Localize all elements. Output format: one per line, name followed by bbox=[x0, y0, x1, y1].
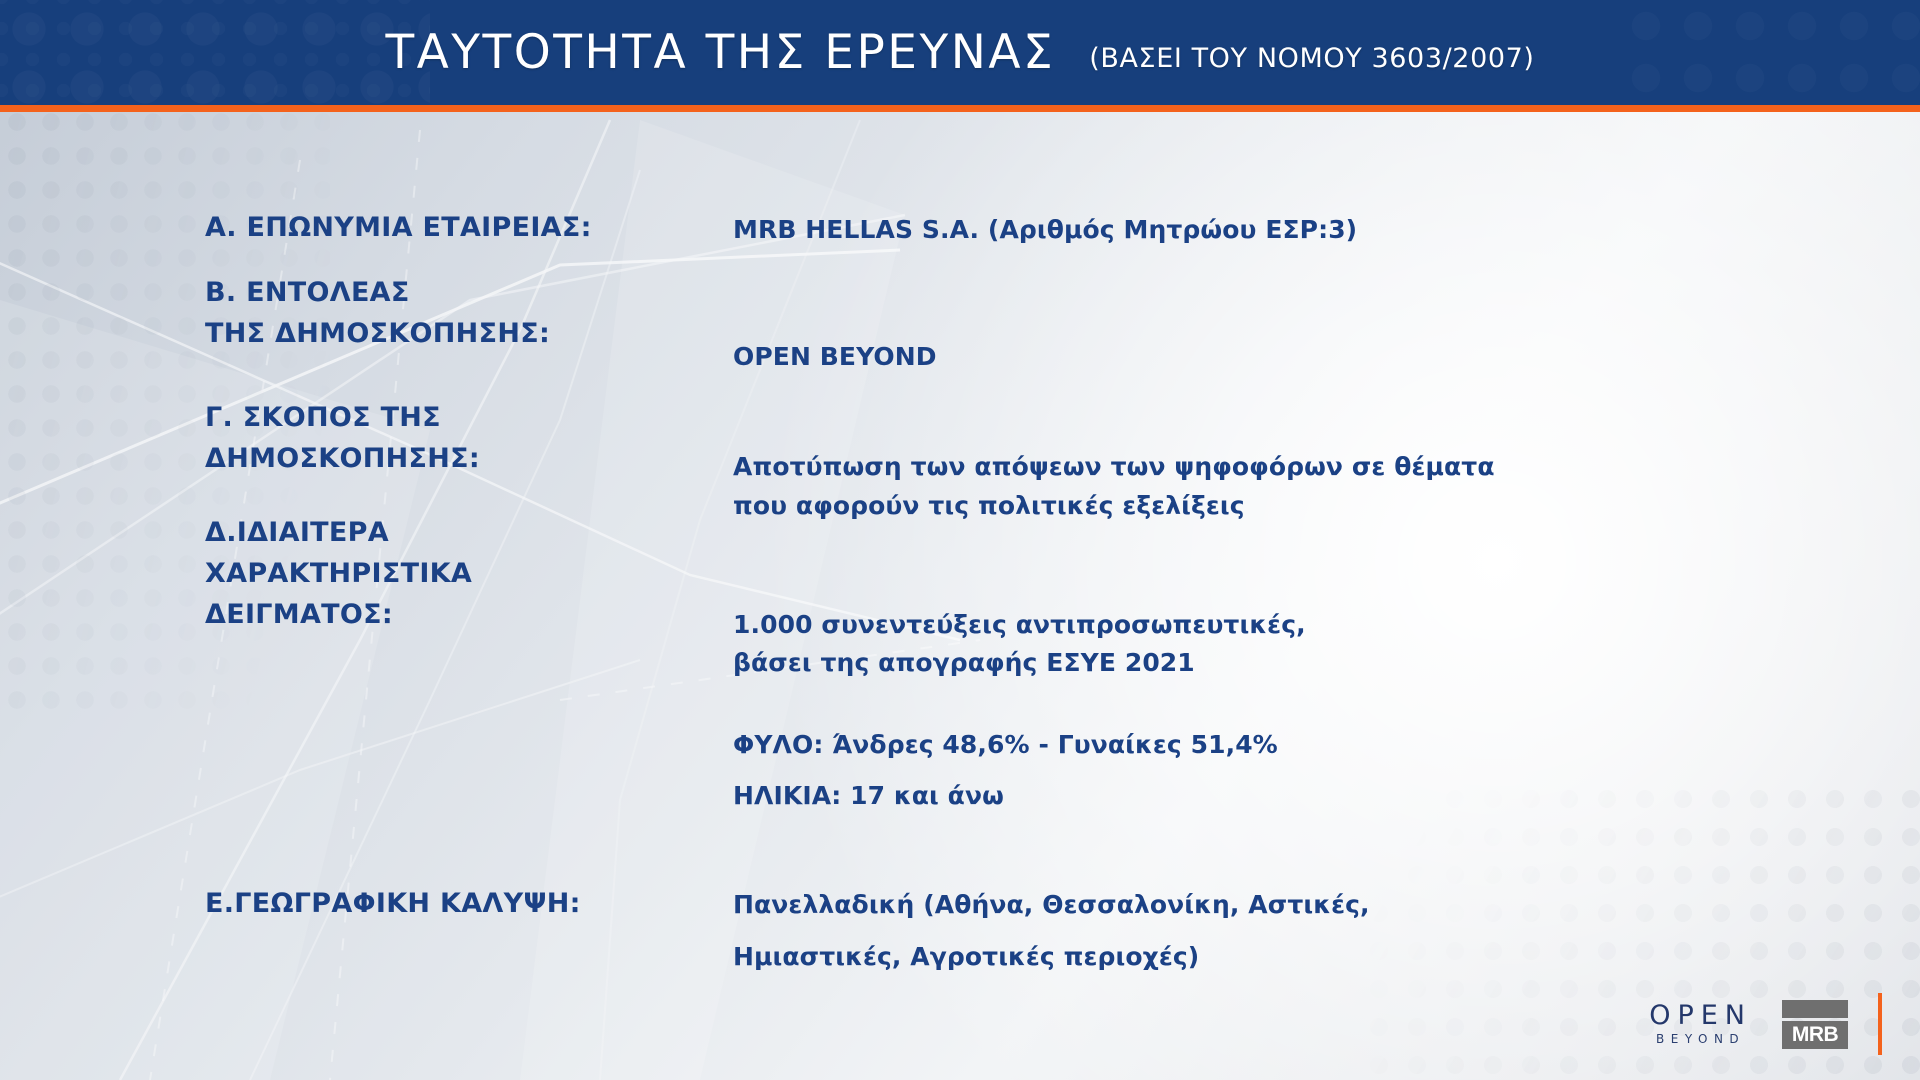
row-value-age-range: ΗΛΙΚΙΑ: 17 και άνω bbox=[733, 776, 1004, 815]
content-area: Α. ΕΠΩΝΥΜΙΑ ΕΤΑΙΡΕΙΑΣ: MRB HELLAS S.A. (… bbox=[0, 112, 1920, 1080]
header-accent-rule bbox=[0, 105, 1920, 112]
open-beyond-logo: OPEN BEYOND bbox=[1642, 1001, 1752, 1047]
open-logo-wordmark: OPEN bbox=[1642, 1001, 1752, 1031]
row-label-geographic-coverage: Ε.ΓΕΩΓΡΑΦΙΚΗ ΚΑΛΥΨΗ: bbox=[205, 883, 581, 924]
mrb-logo-wordmark: MRB bbox=[1792, 1024, 1838, 1045]
row-label-sample-characteristics: Δ.ΙΔΙΑΙΤΕΡΑ ΧΑΡΑΚΤΗΡΙΣΤΙΚΑ ΔΕΙΓΜΑΤΟΣ: bbox=[205, 512, 472, 635]
mrb-logo: MRB bbox=[1782, 1000, 1848, 1049]
logo-accent-divider bbox=[1878, 993, 1882, 1055]
row-value-purpose: Αποτύπωση των απόψεων των ψηφοφόρων σε θ… bbox=[733, 447, 1495, 525]
page-title: ΤΑΥΤΟΤΗΤΑ ΤΗΣ ΕΡΕΥΝΑΣ bbox=[385, 25, 1055, 80]
row-value-client: OPEN BEYOND bbox=[733, 337, 937, 376]
row-label-purpose: Γ. ΣΚΟΠΟΣ ΤΗΣ ΔΗΜΟΣΚΟΠΗΣΗΣ: bbox=[205, 397, 480, 479]
mrb-logo-bottom-bar: MRB bbox=[1782, 1021, 1848, 1049]
row-label-company: Α. ΕΠΩΝΥΜΙΑ ΕΤΑΙΡΕΙΑΣ: bbox=[205, 207, 592, 248]
open-logo-subword: BEYOND bbox=[1649, 1031, 1745, 1047]
row-value-gender-split: ΦΥΛΟ: Άνδρες 48,6% - Γυναίκες 51,4% bbox=[733, 725, 1278, 764]
mrb-logo-top-bar bbox=[1782, 1000, 1848, 1018]
slide-root: ΤΑΥΤΟΤΗΤΑ ΤΗΣ ΕΡΕΥΝΑΣ (ΒΑΣΕΙ ΤΟΥ ΝΟΜΟΥ 3… bbox=[0, 0, 1920, 1080]
page-subtitle: (ΒΑΣΕΙ ΤΟΥ ΝΟΜΟΥ 3603/2007) bbox=[1089, 43, 1534, 74]
row-label-client: Β. ΕΝΤΟΛΕΑΣ ΤΗΣ ΔΗΜΟΣΚΟΠΗΣΗΣ: bbox=[205, 272, 550, 354]
row-value-geographic-coverage: Πανελλαδική (Αθήνα, Θεσσαλονίκη, Αστικές… bbox=[733, 879, 1370, 983]
row-value-sample-size: 1.000 συνεντεύξεις αντιπροσωπευτικές, βά… bbox=[733, 606, 1306, 682]
footer-logos: OPEN BEYOND MRB bbox=[1642, 993, 1882, 1055]
header-bar: ΤΑΥΤΟΤΗΤΑ ΤΗΣ ΕΡΕΥΝΑΣ (ΒΑΣΕΙ ΤΟΥ ΝΟΜΟΥ 3… bbox=[0, 0, 1920, 105]
row-value-company: MRB HELLAS S.A. (Αριθμός Μητρώου ΕΣΡ:3) bbox=[733, 210, 1357, 249]
